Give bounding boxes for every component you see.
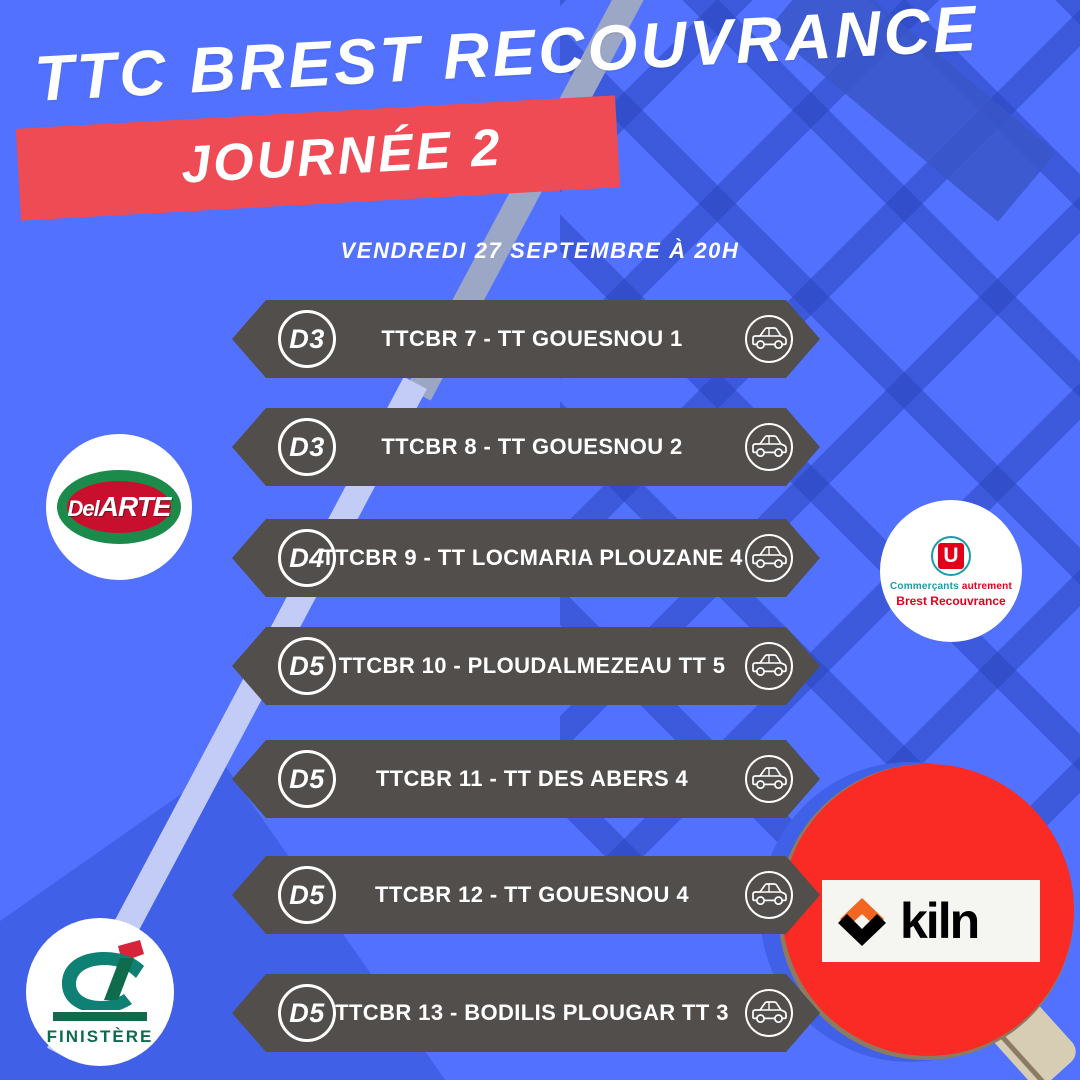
car-icon bbox=[744, 988, 794, 1038]
match-label: TTCBR 12 - TT GOUESNOU 4 bbox=[344, 856, 720, 934]
match-row[interactable]: D5TTCBR 12 - TT GOUESNOU 4 bbox=[232, 856, 820, 934]
division-badge-label: D3 bbox=[289, 434, 325, 461]
division-badge: D3 bbox=[278, 418, 336, 476]
match-label: TTCBR 8 - TT GOUESNOU 2 bbox=[344, 408, 720, 486]
match-label: TTCBR 9 - TT LOCMARIA PLOUZANE 4 bbox=[344, 519, 720, 597]
car-icon bbox=[744, 870, 794, 920]
car-icon bbox=[744, 314, 794, 364]
match-row[interactable]: D3TTCBR 8 - TT GOUESNOU 2 bbox=[232, 408, 820, 486]
division-badge: D5 bbox=[278, 984, 336, 1042]
match-label: TTCBR 7 - TT GOUESNOU 1 bbox=[344, 300, 720, 378]
match-list: D3TTCBR 7 - TT GOUESNOU 1 D3TTCBR 8 - TT… bbox=[0, 0, 1080, 1080]
car-icon bbox=[744, 533, 794, 583]
division-badge-label: D5 bbox=[289, 1000, 325, 1027]
match-label: TTCBR 11 - TT DES ABERS 4 bbox=[344, 740, 720, 818]
match-row[interactable]: D4TTCBR 9 - TT LOCMARIA PLOUZANE 4 bbox=[232, 519, 820, 597]
division-badge: D5 bbox=[278, 750, 336, 808]
division-badge: D5 bbox=[278, 637, 336, 695]
division-badge: D3 bbox=[278, 310, 336, 368]
division-badge-label: D5 bbox=[289, 653, 325, 680]
match-label: TTCBR 10 - PLOUDALMEZEAU TT 5 bbox=[344, 627, 720, 705]
match-row[interactable]: D5TTCBR 10 - PLOUDALMEZEAU TT 5 bbox=[232, 627, 820, 705]
division-badge-label: D5 bbox=[289, 766, 325, 793]
match-row[interactable]: D3TTCBR 7 - TT GOUESNOU 1 bbox=[232, 300, 820, 378]
division-badge: D5 bbox=[278, 866, 336, 924]
car-icon bbox=[744, 641, 794, 691]
match-label: TTCBR 13 - BODILIS PLOUGAR TT 3 bbox=[344, 974, 720, 1052]
match-row[interactable]: D5TTCBR 11 - TT DES ABERS 4 bbox=[232, 740, 820, 818]
car-icon bbox=[744, 422, 794, 472]
match-row[interactable]: D5TTCBR 13 - BODILIS PLOUGAR TT 3 bbox=[232, 974, 820, 1052]
car-icon bbox=[744, 754, 794, 804]
division-badge-label: D5 bbox=[289, 882, 325, 909]
poster-canvas: kiln TTC BREST RECOUVRANCE JOURNÉE 2 VEN… bbox=[0, 0, 1080, 1080]
division-badge-label: D3 bbox=[289, 326, 325, 353]
division-badge-label: D4 bbox=[289, 545, 325, 572]
